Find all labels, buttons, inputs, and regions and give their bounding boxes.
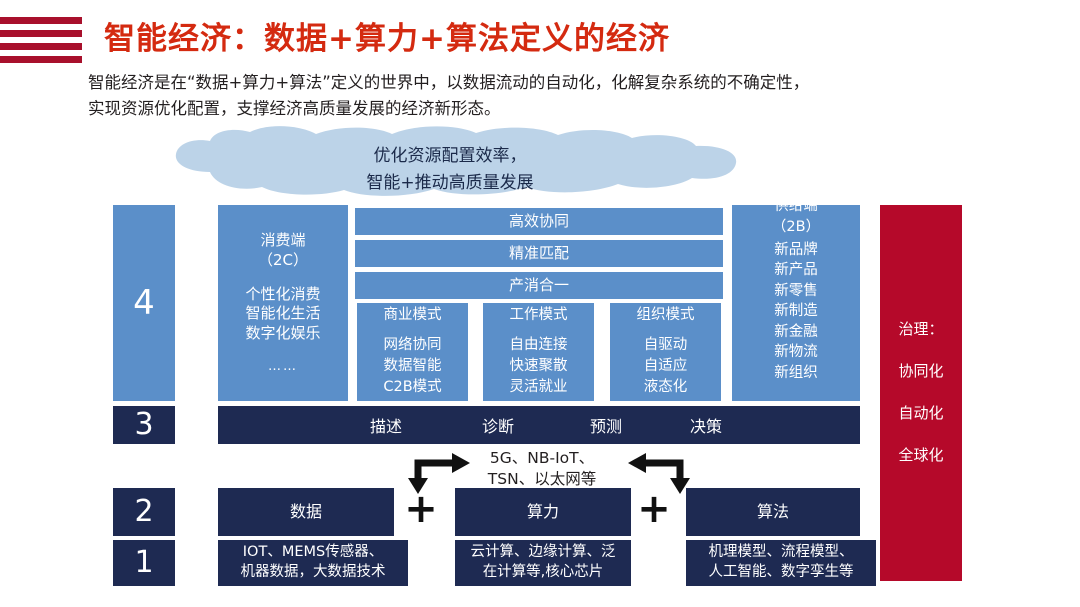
stripe-4: [0, 56, 82, 63]
consumer-side-box[interactable]: 消费端 （2C） 个性化消费 智能化生活 数字化娱乐 ……: [218, 205, 348, 401]
consumer-item-0: 个性化消费: [245, 285, 320, 305]
consumer-item-2: 数字化娱乐: [245, 324, 320, 344]
supply-item-5: 新物流: [774, 342, 818, 363]
data-detail-line-2: 机器数据，大数据技术: [241, 563, 386, 583]
mode-business-item-2: C2B模式: [383, 377, 441, 398]
intro-line-2: 实现资源优化配置，支撑经济高质量发展的经济新形态。: [88, 96, 1018, 122]
governance-title: 治理：: [898, 320, 943, 340]
level-2-number: 2: [113, 488, 175, 536]
pillar-box-data[interactable]: 数据: [218, 488, 394, 536]
mode-work-item-2: 灵活就业: [510, 377, 568, 398]
bar-efficient-collaboration[interactable]: 高效协同: [355, 208, 723, 235]
mode-box-work[interactable]: 工作模式 自由连接 快速聚散 灵活就业: [483, 303, 594, 401]
stage-diagnose: 诊断: [458, 406, 538, 444]
stripe-1: [0, 17, 82, 24]
supply-item-0: 新品牌: [774, 240, 818, 261]
algo-detail-line-2: 人工智能、数字孪生等: [709, 563, 854, 583]
page-title: 智能经济：数据+算力+算法定义的经济: [104, 13, 864, 58]
level-3-number: 3: [113, 406, 175, 444]
mode-business-item-1: 数据智能: [384, 356, 442, 377]
consumer-title-line-2: （2C）: [258, 251, 308, 271]
cloud-line-1: 优化资源配置效率，: [374, 143, 527, 170]
mode-business-title: 商业模式: [384, 306, 442, 325]
mode-work-item-1: 快速聚散: [510, 356, 568, 377]
mode-work-title: 工作模式: [510, 306, 568, 325]
data-detail-line-1: IOT、MEMS传感器、: [243, 543, 383, 563]
stripe-2: [0, 30, 82, 37]
stage-describe: 描述: [346, 406, 426, 444]
compute-detail-line-2: 在计算等,核心芯片: [483, 563, 604, 583]
supply-title-line-2: （2B）: [772, 218, 820, 237]
detail-box-computing[interactable]: 云计算、边缘计算、泛 在计算等,核心芯片: [455, 540, 631, 586]
consumer-ellipsis: ……: [268, 358, 298, 375]
level-3-analytics-bar[interactable]: 描述 诊断 预测 决策: [218, 406, 860, 444]
mode-organization-item-0: 自驱动: [644, 335, 688, 356]
supply-item-2: 新零售: [774, 281, 818, 302]
network-technologies-label: 5G、NB-IoT、 TSN、以太网等: [452, 448, 632, 490]
supply-item-1: 新产品: [774, 260, 818, 281]
plus-sign-1-icon: +: [404, 492, 438, 526]
cloud-line-2: 智能+推动高质量发展: [366, 170, 533, 197]
level-4-number: 4: [113, 205, 175, 401]
bar-prosumer-integration[interactable]: 产消合一: [355, 272, 723, 299]
compute-detail-line-1: 云计算、边缘计算、泛: [471, 543, 616, 563]
intro-line-1: 智能经济是在“数据+算力+算法”定义的世界中，以数据流动的自动化，化解复杂系统的…: [88, 70, 1018, 96]
mode-organization-item-2: 液态化: [644, 377, 688, 398]
supply-title-line-1: 供给端: [774, 197, 818, 216]
supply-item-3: 新制造: [774, 301, 818, 322]
pillar-box-computing-power[interactable]: 算力: [455, 488, 631, 536]
pillar-box-algorithm[interactable]: 算法: [686, 488, 860, 536]
supply-side-box[interactable]: 供给端 （2B） 新品牌 新产品 新零售 新制造 新金融 新物流 新组织 ……: [732, 205, 860, 401]
supply-item-6: 新组织: [774, 363, 818, 384]
mode-box-business[interactable]: 商业模式 网络协同 数据智能 C2B模式: [357, 303, 468, 401]
cloud-text: 优化资源配置效率， 智能+推动高质量发展: [140, 140, 760, 200]
bar-precise-matching[interactable]: 精准匹配: [355, 240, 723, 267]
mode-box-organization[interactable]: 组织模式 自驱动 自适应 液态化: [610, 303, 721, 401]
mode-organization-item-1: 自适应: [644, 356, 688, 377]
supply-item-4: 新金融: [774, 322, 818, 343]
stage-predict: 预测: [566, 406, 646, 444]
mode-business-item-0: 网络协同: [384, 335, 442, 356]
plus-sign-2-icon: +: [637, 492, 671, 526]
governance-panel[interactable]: 治理： 协同化 自动化 全球化: [880, 205, 962, 581]
detail-box-algorithm[interactable]: 机理模型、流程模型、 人工智能、数字孪生等: [686, 540, 876, 586]
network-line-1: 5G、NB-IoT、: [452, 448, 632, 469]
mode-work-item-0: 自由连接: [510, 335, 568, 356]
governance-item-0: 协同化: [898, 362, 943, 382]
decorative-red-stripes: [0, 17, 82, 63]
network-line-2: TSN、以太网等: [452, 469, 632, 490]
governance-item-1: 自动化: [898, 404, 943, 424]
governance-item-2: 全球化: [898, 446, 943, 466]
mode-organization-title: 组织模式: [637, 306, 695, 325]
stage-decide: 决策: [666, 406, 746, 444]
stripe-3: [0, 43, 82, 50]
consumer-title-line-1: 消费端: [260, 231, 305, 251]
intro-paragraph: 智能经济是在“数据+算力+算法”定义的世界中，以数据流动的自动化，化解复杂系统的…: [88, 70, 1018, 122]
level-1-number: 1: [113, 540, 175, 586]
detail-box-data[interactable]: IOT、MEMS传感器、 机器数据，大数据技术: [218, 540, 408, 586]
consumer-item-1: 智能化生活: [245, 304, 320, 324]
algo-detail-line-1: 机理模型、流程模型、: [709, 543, 854, 563]
